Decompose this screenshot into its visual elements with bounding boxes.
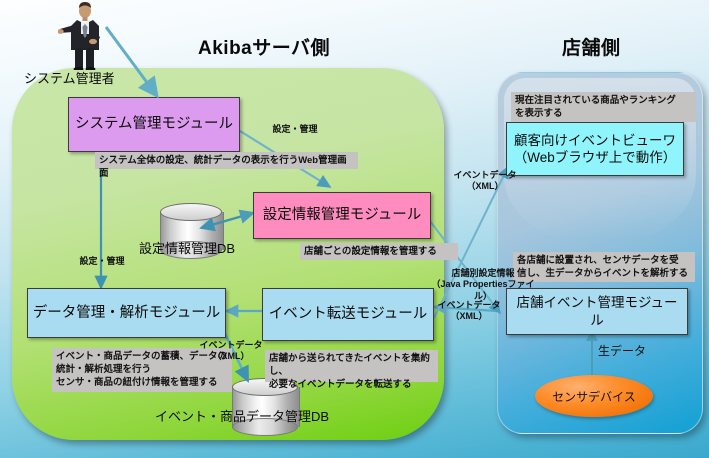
database-event-product-label: イベント・商品データ管理DB: [155, 406, 329, 425]
diagram-canvas: Akibaサーバ側 店舗側: [0, 0, 709, 458]
module-config-info[interactable]: 設定情報管理モジュール: [253, 192, 431, 239]
label-config-manage-left: 設定・管理: [72, 256, 132, 267]
label-config-manage-right: 設定・管理: [265, 124, 325, 135]
module-event-transfer[interactable]: イベント転送モジュール: [262, 288, 434, 341]
label-event-data-analysis: イベントデータ （XML）: [198, 340, 264, 363]
caption-store-event: 各店舗に設置され、センサデータを受 信し、生データからイベントを解析する: [513, 252, 695, 282]
label-store-config-file: 店舗別設定情報 （Java Propertiesファイル）: [428, 268, 538, 302]
module-customer-viewer[interactable]: 顧客向けイベントビューワ （Webブラウザ上で動作）: [506, 122, 684, 176]
server-side-title: Akibaサーバ側: [198, 33, 330, 60]
system-admin-label: システム管理者: [24, 68, 115, 87]
device-sensor[interactable]: センサデバイス: [535, 375, 653, 417]
caption-system-admin: システム全体の設定、統計データの表示を行うWeb管理画面: [95, 152, 358, 169]
label-raw-data: 生データ: [598, 344, 658, 359]
module-data-analysis[interactable]: データ管理・解析モジュール: [27, 288, 226, 338]
caption-customer-viewer: 現在注目されている商品やランキング を表示する: [511, 92, 696, 122]
label-event-data-viewer: イベントデータ （XML）: [452, 170, 518, 193]
label-event-data-from-store: イベントデータ （XML）: [436, 300, 502, 323]
module-system-admin[interactable]: システム管理モジュール: [68, 97, 240, 152]
caption-event-transfer: 店舗から送られてきたイベントを集約し、 必要なイベントデータを転送する: [265, 350, 438, 382]
system-admin-avatar: [58, 2, 110, 70]
database-config-label: 設定情報管理DB: [139, 238, 235, 257]
caption-config-info: 店舗ごとの設定情報を管理する: [300, 243, 458, 260]
store-side-title: 店舗側: [562, 33, 621, 60]
